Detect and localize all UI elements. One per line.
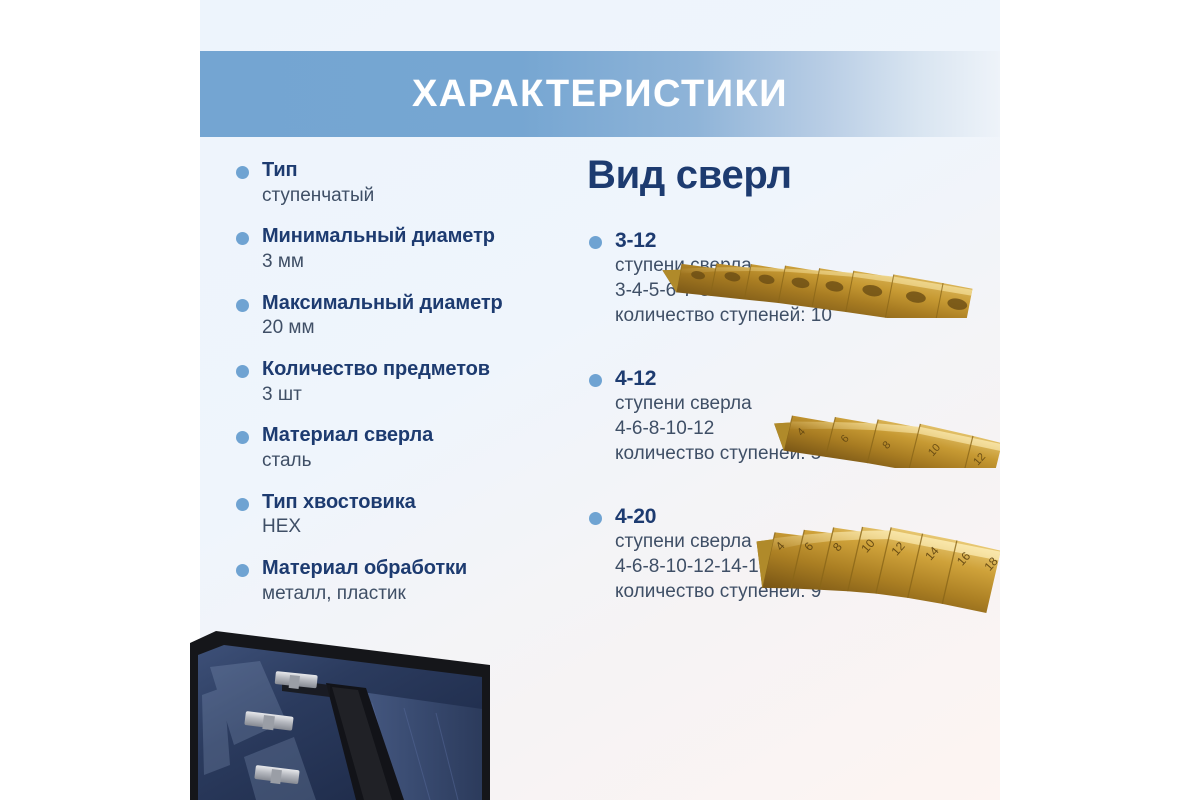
bullet-icon bbox=[236, 365, 249, 378]
spec-label: Максимальный диаметр bbox=[262, 292, 582, 316]
specifications-list: Тип ступенчатый Минимальный диаметр 3 мм… bbox=[232, 159, 582, 605]
bullet-icon bbox=[236, 498, 249, 511]
drill-steps-count: количество ступеней: 9 bbox=[615, 579, 985, 604]
drill-steps-label: ступени сверла bbox=[615, 391, 985, 416]
spec-label: Материал сверла bbox=[262, 424, 582, 448]
drill-types-section: Вид сверл 3-12 ступени сверла 3-4-5-6-7-… bbox=[585, 155, 985, 611]
spec-item-max-diameter: Максимальный диаметр 20 мм bbox=[232, 292, 582, 340]
drill-steps-label: ступени сверла bbox=[615, 529, 985, 554]
spec-item-shank-type: Тип хвостовика HEX bbox=[232, 491, 582, 539]
product-infographic: ХАРАКТЕРИСТИКИ Тип ступенчатый Минимальн… bbox=[0, 0, 1200, 800]
spec-value: 3 мм bbox=[262, 250, 582, 274]
spec-label: Тип bbox=[262, 159, 582, 183]
spec-label: Количество предметов bbox=[262, 358, 582, 382]
spec-value: сталь bbox=[262, 449, 582, 473]
drill-steps-values: 4-6-8-10-12 bbox=[615, 416, 985, 441]
spec-item-drill-material: Материал сверла сталь bbox=[232, 424, 582, 472]
bullet-icon bbox=[589, 512, 602, 525]
bullet-icon bbox=[236, 431, 249, 444]
drill-steps-label: ступени сверла bbox=[615, 253, 985, 278]
drill-steps-values: 4-6-8-10-12-14-16-18-20 bbox=[615, 554, 985, 579]
spec-value: 3 шт bbox=[262, 383, 582, 407]
spec-label: Минимальный диаметр bbox=[262, 225, 582, 249]
drill-range: 4-12 bbox=[615, 367, 985, 391]
drill-entry-4-12: 4-12 ступени сверла 4-6-8-10-12 количест… bbox=[585, 367, 985, 473]
bullet-icon bbox=[589, 374, 602, 387]
spec-label: Тип хвостовика bbox=[262, 491, 582, 515]
spec-item-quantity: Количество предметов 3 шт bbox=[232, 358, 582, 406]
drill-steps-count: количество ступеней: 5 bbox=[615, 441, 985, 466]
drill-types-heading: Вид сверл bbox=[587, 155, 985, 195]
spec-item-workpiece-material: Материал обработки металл, пластик bbox=[232, 557, 582, 605]
drill-range: 3-12 bbox=[615, 229, 985, 253]
bullet-icon bbox=[589, 236, 602, 249]
spec-label: Материал обработки bbox=[262, 557, 582, 581]
page-title: ХАРАКТЕРИСТИКИ bbox=[412, 75, 788, 113]
bullet-icon bbox=[236, 232, 249, 245]
drill-entry-3-12: 3-12 ступени сверла 3-4-5-6-7-8-9-10-11-… bbox=[585, 229, 985, 335]
bullet-icon bbox=[236, 299, 249, 312]
spec-value: ступенчатый bbox=[262, 184, 582, 208]
drill-steps-values: 3-4-5-6-7-8-9-10-11-12 bbox=[615, 278, 985, 303]
storage-pouch-photo bbox=[190, 625, 490, 800]
drill-range: 4-20 bbox=[615, 505, 985, 529]
drill-steps-count: количество ступеней: 10 bbox=[615, 303, 985, 328]
spec-value: металл, пластик bbox=[262, 582, 582, 606]
spec-item-tip: Тип ступенчатый bbox=[232, 159, 582, 207]
bullet-icon bbox=[236, 166, 249, 179]
bullet-icon bbox=[236, 564, 249, 577]
spec-value: 20 мм bbox=[262, 316, 582, 340]
spec-item-min-diameter: Минимальный диаметр 3 мм bbox=[232, 225, 582, 273]
drill-entry-4-20: 4-20 ступени сверла 4-6-8-10-12-14-16-18… bbox=[585, 505, 985, 611]
header-band: ХАРАКТЕРИСТИКИ bbox=[200, 51, 1000, 137]
spec-value: HEX bbox=[262, 515, 582, 539]
